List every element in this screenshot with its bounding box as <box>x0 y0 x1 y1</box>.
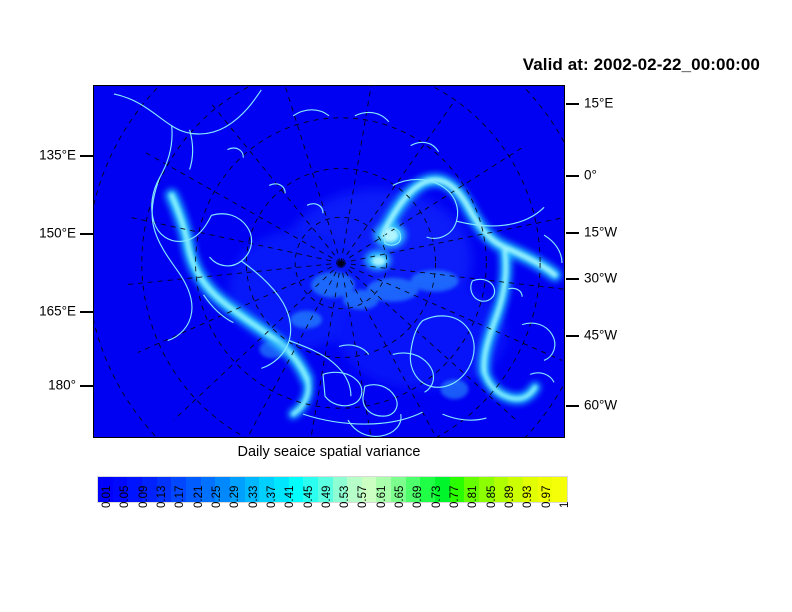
colorbar-tick-8: 0.33 <box>248 486 260 508</box>
colorbar-swatch-31 <box>552 477 567 502</box>
figure-title: Valid at: 2002-02-22_00:00:00 <box>523 55 760 75</box>
colorbar-tick-10: 0.41 <box>284 486 296 508</box>
axis-label-left-0: 135°E <box>0 148 76 163</box>
tick-mark-right-2 <box>566 232 579 234</box>
colorbar-tick-23: 0.93 <box>522 486 534 508</box>
colorbar-tick-17: 0.69 <box>412 486 424 508</box>
colorbar-tick-16: 0.65 <box>394 486 406 508</box>
colorbar-tick-15: 0.61 <box>376 486 388 508</box>
tick-mark-left-1 <box>80 233 93 235</box>
colorbar-tick-21: 0.85 <box>486 486 498 508</box>
axis-label-right-4: 45°W <box>584 328 617 343</box>
colorbar-tick-3: 0.13 <box>156 486 168 508</box>
colorbar-tick-1: 0.05 <box>119 486 131 508</box>
colorbar-caption: Daily seaice spatial variance <box>93 444 565 460</box>
colorbar-tick-11: 0.45 <box>303 486 315 508</box>
axis-label-right-2: 15°W <box>584 225 617 240</box>
axis-label-left-1: 150°E <box>0 226 76 241</box>
colorbar-tick-22: 0.89 <box>504 486 516 508</box>
figure-canvas: Valid at: 2002-02-22_00:00:00 <box>0 0 792 612</box>
axis-label-left-3: 180° <box>0 378 76 393</box>
colorbar-tick-12: 0.49 <box>321 486 333 508</box>
map-raster <box>94 86 564 437</box>
axis-label-right-1: 0° <box>584 168 597 183</box>
tick-mark-left-2 <box>80 311 93 313</box>
tick-mark-left-3 <box>80 385 93 387</box>
axis-label-right-5: 60°W <box>584 398 617 413</box>
axis-label-left-2: 165°E <box>0 304 76 319</box>
colorbar-tick-labels: 0.010.050.090.130.170.210.250.290.330.37… <box>0 508 792 568</box>
colorbar-tick-18: 0.73 <box>431 486 443 508</box>
colorbar-tick-9: 0.37 <box>266 486 278 508</box>
map-plot-area[interactable] <box>93 85 565 438</box>
colorbar-tick-14: 0.57 <box>357 486 369 508</box>
colorbar-tick-25: 1 <box>559 502 571 508</box>
tick-mark-right-5 <box>566 405 579 407</box>
tick-mark-right-4 <box>566 335 579 337</box>
tick-mark-right-1 <box>566 175 579 177</box>
colorbar-tick-4: 0.17 <box>174 486 186 508</box>
colorbar-tick-24: 0.97 <box>541 486 553 508</box>
colorbar-tick-20: 0.81 <box>467 486 479 508</box>
colorbar-tick-19: 0.77 <box>449 486 461 508</box>
tick-mark-right-3 <box>566 278 579 280</box>
axis-label-right-0: 15°E <box>584 96 613 111</box>
colorbar-tick-7: 0.29 <box>229 486 241 508</box>
tick-mark-left-0 <box>80 155 93 157</box>
colorbar-tick-0: 0.01 <box>101 486 113 508</box>
axis-label-right-3: 30°W <box>584 271 617 286</box>
colorbar-tick-13: 0.53 <box>339 486 351 508</box>
colorbar-tick-2: 0.09 <box>138 486 150 508</box>
tick-mark-right-0 <box>566 103 579 105</box>
colorbar-tick-5: 0.21 <box>193 486 205 508</box>
colorbar-tick-6: 0.25 <box>211 486 223 508</box>
